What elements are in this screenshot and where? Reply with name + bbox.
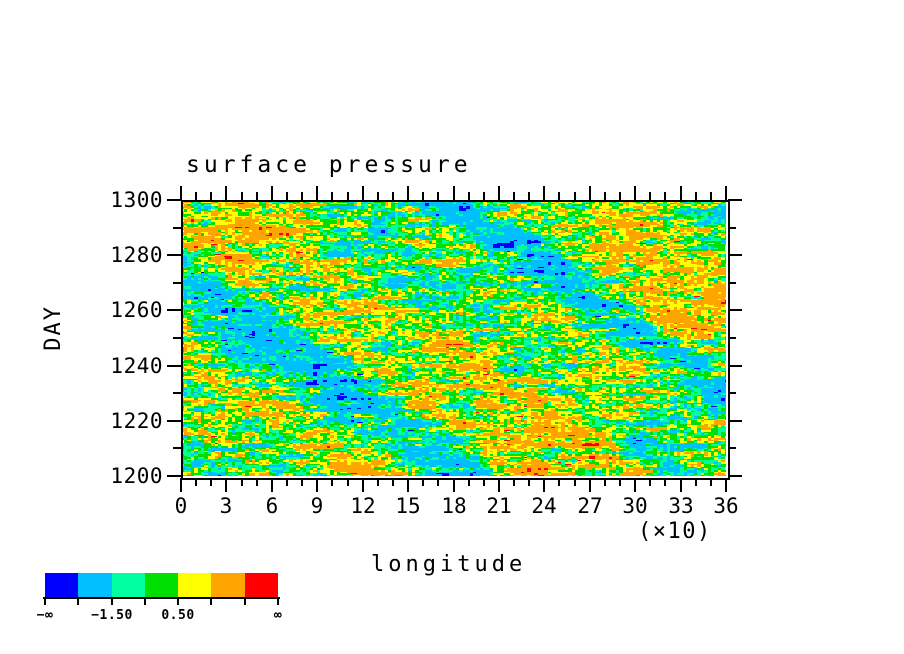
y-major-tick — [167, 254, 181, 256]
x-major-tick — [680, 478, 682, 492]
x-minor-tick — [695, 478, 697, 486]
colorbar-tick — [177, 597, 179, 605]
x-minor-tick — [195, 192, 197, 200]
x-tick-label: 9 — [311, 494, 324, 518]
y-minor-tick — [173, 337, 181, 339]
x-minor-tick — [710, 192, 712, 200]
colorbar — [45, 573, 278, 597]
x-tick-label: 6 — [266, 494, 279, 518]
x-minor-tick — [664, 478, 666, 486]
x-minor-tick — [286, 478, 288, 486]
x-tick-label: 27 — [577, 494, 602, 518]
y-minor-tick — [173, 282, 181, 284]
x-major-tick — [498, 478, 500, 492]
x-minor-tick — [210, 478, 212, 486]
x-minor-tick — [195, 478, 197, 486]
x-tick-label: 3 — [220, 494, 233, 518]
x-minor-tick — [513, 192, 515, 200]
colorbar-tick — [44, 597, 46, 605]
x-minor-tick — [437, 478, 439, 486]
y-tick-label: 1260 — [63, 298, 163, 322]
x-tick-label: 0 — [175, 494, 188, 518]
colorbar-tick — [210, 597, 212, 605]
x-minor-tick — [574, 478, 576, 486]
x-minor-tick — [558, 478, 560, 486]
x-minor-tick — [347, 478, 349, 486]
y-minor-tick — [728, 447, 736, 449]
x-minor-tick — [437, 192, 439, 200]
x-minor-tick — [256, 478, 258, 486]
x-tick-label: 21 — [486, 494, 511, 518]
heatmap-plot-area — [181, 200, 726, 476]
x-tick-label: 24 — [531, 494, 556, 518]
x-minor-tick — [558, 192, 560, 200]
x-minor-tick — [256, 192, 258, 200]
colorbar-tick-label: ∞ — [274, 608, 282, 623]
x-major-tick — [453, 186, 455, 200]
x-minor-tick — [483, 192, 485, 200]
x-minor-tick — [347, 192, 349, 200]
x-minor-tick — [210, 192, 212, 200]
colorbar-tick — [77, 597, 79, 605]
x-minor-tick — [331, 192, 333, 200]
x-minor-tick — [513, 478, 515, 486]
x-major-tick — [316, 186, 318, 200]
x-major-tick — [543, 186, 545, 200]
y-minor-tick — [728, 337, 736, 339]
x-minor-tick — [619, 478, 621, 486]
heatmap-canvas — [181, 200, 726, 476]
colorbar-swatch-spring-green — [112, 573, 145, 597]
colorbar-tick-label: −∞ — [37, 608, 54, 623]
x-major-tick — [225, 478, 227, 492]
page-title: surface pressure — [186, 152, 472, 178]
x-minor-tick — [422, 478, 424, 486]
colorbar-tick-label: −1.50 — [91, 608, 133, 623]
x-major-tick — [271, 186, 273, 200]
x-minor-tick — [468, 478, 470, 486]
y-major-tick — [167, 420, 181, 422]
x-major-tick — [407, 478, 409, 492]
x-tick-label: 33 — [668, 494, 693, 518]
y-major-tick — [167, 365, 181, 367]
y-major-tick — [728, 365, 742, 367]
colorbar-tick — [244, 597, 246, 605]
colorbar-tick — [277, 597, 279, 605]
y-major-tick — [167, 475, 181, 477]
y-axis-title: DAY — [41, 305, 66, 351]
y-tick-label: 1240 — [63, 354, 163, 378]
y-minor-tick — [173, 447, 181, 449]
x-major-tick — [453, 478, 455, 492]
x-minor-tick — [649, 192, 651, 200]
colorbar-swatch-red — [245, 573, 278, 597]
y-major-tick — [728, 254, 742, 256]
x-major-tick — [725, 478, 727, 492]
x-major-tick — [362, 186, 364, 200]
colorbar-tick — [111, 597, 113, 605]
x-major-tick — [180, 186, 182, 200]
x-minor-tick — [604, 192, 606, 200]
x-minor-tick — [574, 192, 576, 200]
x-minor-tick — [468, 192, 470, 200]
x-major-tick — [634, 186, 636, 200]
x-minor-tick — [392, 478, 394, 486]
colorbar-swatch-light-blue — [78, 573, 111, 597]
y-major-tick — [167, 309, 181, 311]
x-minor-tick — [377, 192, 379, 200]
x-minor-tick — [710, 478, 712, 486]
x-minor-tick — [377, 478, 379, 486]
x-major-tick — [225, 186, 227, 200]
x-tick-label: 30 — [622, 494, 647, 518]
x-major-tick — [271, 478, 273, 492]
y-major-tick — [728, 475, 742, 477]
y-tick-label: 1300 — [63, 188, 163, 212]
y-minor-tick — [728, 227, 736, 229]
x-major-tick — [680, 186, 682, 200]
colorbar-swatch-orange — [211, 573, 244, 597]
x-minor-tick — [664, 192, 666, 200]
x-minor-tick — [483, 478, 485, 486]
x-tick-label: 15 — [395, 494, 420, 518]
x-major-tick — [543, 478, 545, 492]
x-minor-tick — [604, 478, 606, 486]
x-major-tick — [589, 186, 591, 200]
y-major-tick — [728, 420, 742, 422]
x-major-tick — [589, 478, 591, 492]
y-minor-tick — [173, 227, 181, 229]
y-major-tick — [728, 199, 742, 201]
x-minor-tick — [301, 192, 303, 200]
x-major-tick — [407, 186, 409, 200]
x-tick-label: 18 — [441, 494, 466, 518]
y-tick-label: 1280 — [63, 243, 163, 267]
x-tick-label: 12 — [350, 494, 375, 518]
y-tick-label: 1200 — [63, 464, 163, 488]
colorbar-swatch-green — [145, 573, 178, 597]
x-major-tick — [180, 478, 182, 492]
x-minor-tick — [241, 192, 243, 200]
y-minor-tick — [728, 392, 736, 394]
y-minor-tick — [728, 282, 736, 284]
x-tick-label: 36 — [713, 494, 738, 518]
x-minor-tick — [286, 192, 288, 200]
x-minor-tick — [528, 192, 530, 200]
x-major-tick — [498, 186, 500, 200]
y-tick-label: 1220 — [63, 409, 163, 433]
x-major-tick — [634, 478, 636, 492]
colorbar-tick — [144, 597, 146, 605]
x-minor-tick — [241, 478, 243, 486]
x-minor-tick — [695, 192, 697, 200]
x-axis-title: longitude — [371, 552, 526, 577]
x-minor-tick — [331, 478, 333, 486]
figure-canvas: surface pressure 0369121518212427303336 … — [0, 0, 904, 654]
x-minor-tick — [649, 478, 651, 486]
x-minor-tick — [301, 478, 303, 486]
x-major-tick — [316, 478, 318, 492]
x-axis-multiplier-annotation: (×10) — [638, 519, 712, 544]
y-major-tick — [167, 199, 181, 201]
y-minor-tick — [173, 392, 181, 394]
colorbar-tick-label: 0.50 — [161, 608, 194, 623]
x-minor-tick — [422, 192, 424, 200]
y-major-tick — [728, 309, 742, 311]
colorbar-swatch-blue — [45, 573, 78, 597]
x-major-tick — [725, 186, 727, 200]
x-minor-tick — [528, 478, 530, 486]
x-minor-tick — [392, 192, 394, 200]
x-minor-tick — [619, 192, 621, 200]
colorbar-swatch-yellow — [178, 573, 211, 597]
x-major-tick — [362, 478, 364, 492]
